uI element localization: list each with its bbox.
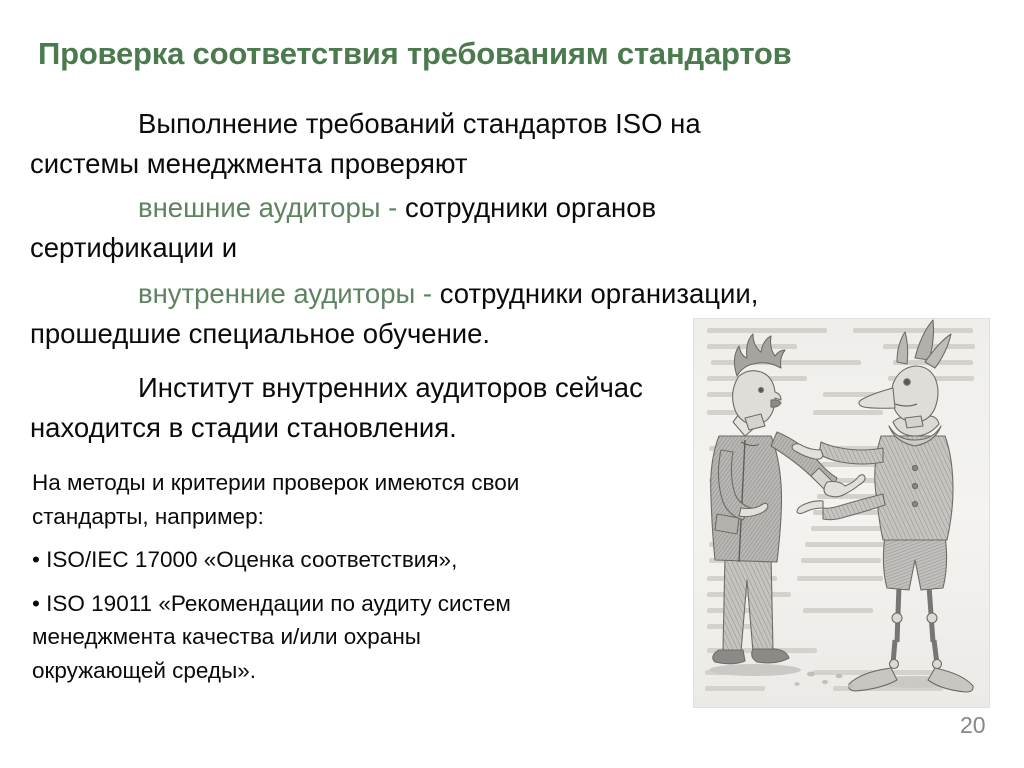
bullet-marker: • — [32, 591, 40, 616]
page-title: Проверка соответствия требованиям станда… — [38, 36, 988, 72]
external-auditors-term: внешние аудиторы - — [138, 192, 405, 223]
internal-auditors-definition: сотрудники организации, — [440, 278, 759, 309]
paragraph-institute: Институт внутренних аудиторов сейчас нах… — [30, 368, 710, 448]
institute-line-2: находится в стадии становления. — [30, 412, 457, 443]
external-auditors-definition: сотрудники органов — [405, 192, 656, 223]
paragraph-intro-line-2: системы менеджмента проверяют — [30, 148, 467, 179]
spacer — [32, 577, 682, 587]
paragraph-external-auditors: внешние аудиторы - сотрудники органов се… — [30, 188, 870, 268]
standards-list-block: На методы и критерии проверок имеются св… — [32, 466, 682, 687]
two-figures-pointing-drawing — [693, 318, 990, 708]
internal-auditors-line-2: прошедшие специальное обучение. — [30, 318, 490, 349]
illustration-image — [693, 318, 990, 708]
list-item: • ISO/IEC 17000 «Оценка соответствия», — [32, 543, 682, 577]
slide-number: 20 — [960, 712, 1000, 739]
list-item: • ISO 19011 «Рекомендации по аудиту сист… — [32, 587, 682, 621]
institute-line-1: Институт внутренних аудиторов сейчас — [138, 372, 643, 403]
slide-canvas: Проверка соответствия требованиям станда… — [0, 0, 1024, 768]
paragraph-intro: Выполнение требований стандартов ISO на … — [30, 104, 870, 184]
list-item-text: ISO/IEC 17000 «Оценка соответствия», — [46, 547, 457, 572]
bullet-marker: • — [32, 547, 40, 572]
spacer — [32, 533, 682, 543]
list-item-continuation: менеджмента качества и/или охраны — [32, 620, 682, 654]
standards-intro-line-1: На методы и критерии проверок имеются св… — [32, 466, 682, 500]
external-auditors-line-2: сертификации и — [30, 232, 237, 263]
list-item-text: ISO 19011 «Рекомендации по аудиту систем — [46, 591, 511, 616]
standards-intro-line-2: стандарты, например: — [32, 500, 682, 534]
list-item-continuation: окружающей среды». — [32, 654, 682, 688]
internal-auditors-term: внутренние аудиторы - — [138, 278, 440, 309]
paragraph-intro-line-1: Выполнение требований стандартов ISO на — [138, 108, 701, 139]
